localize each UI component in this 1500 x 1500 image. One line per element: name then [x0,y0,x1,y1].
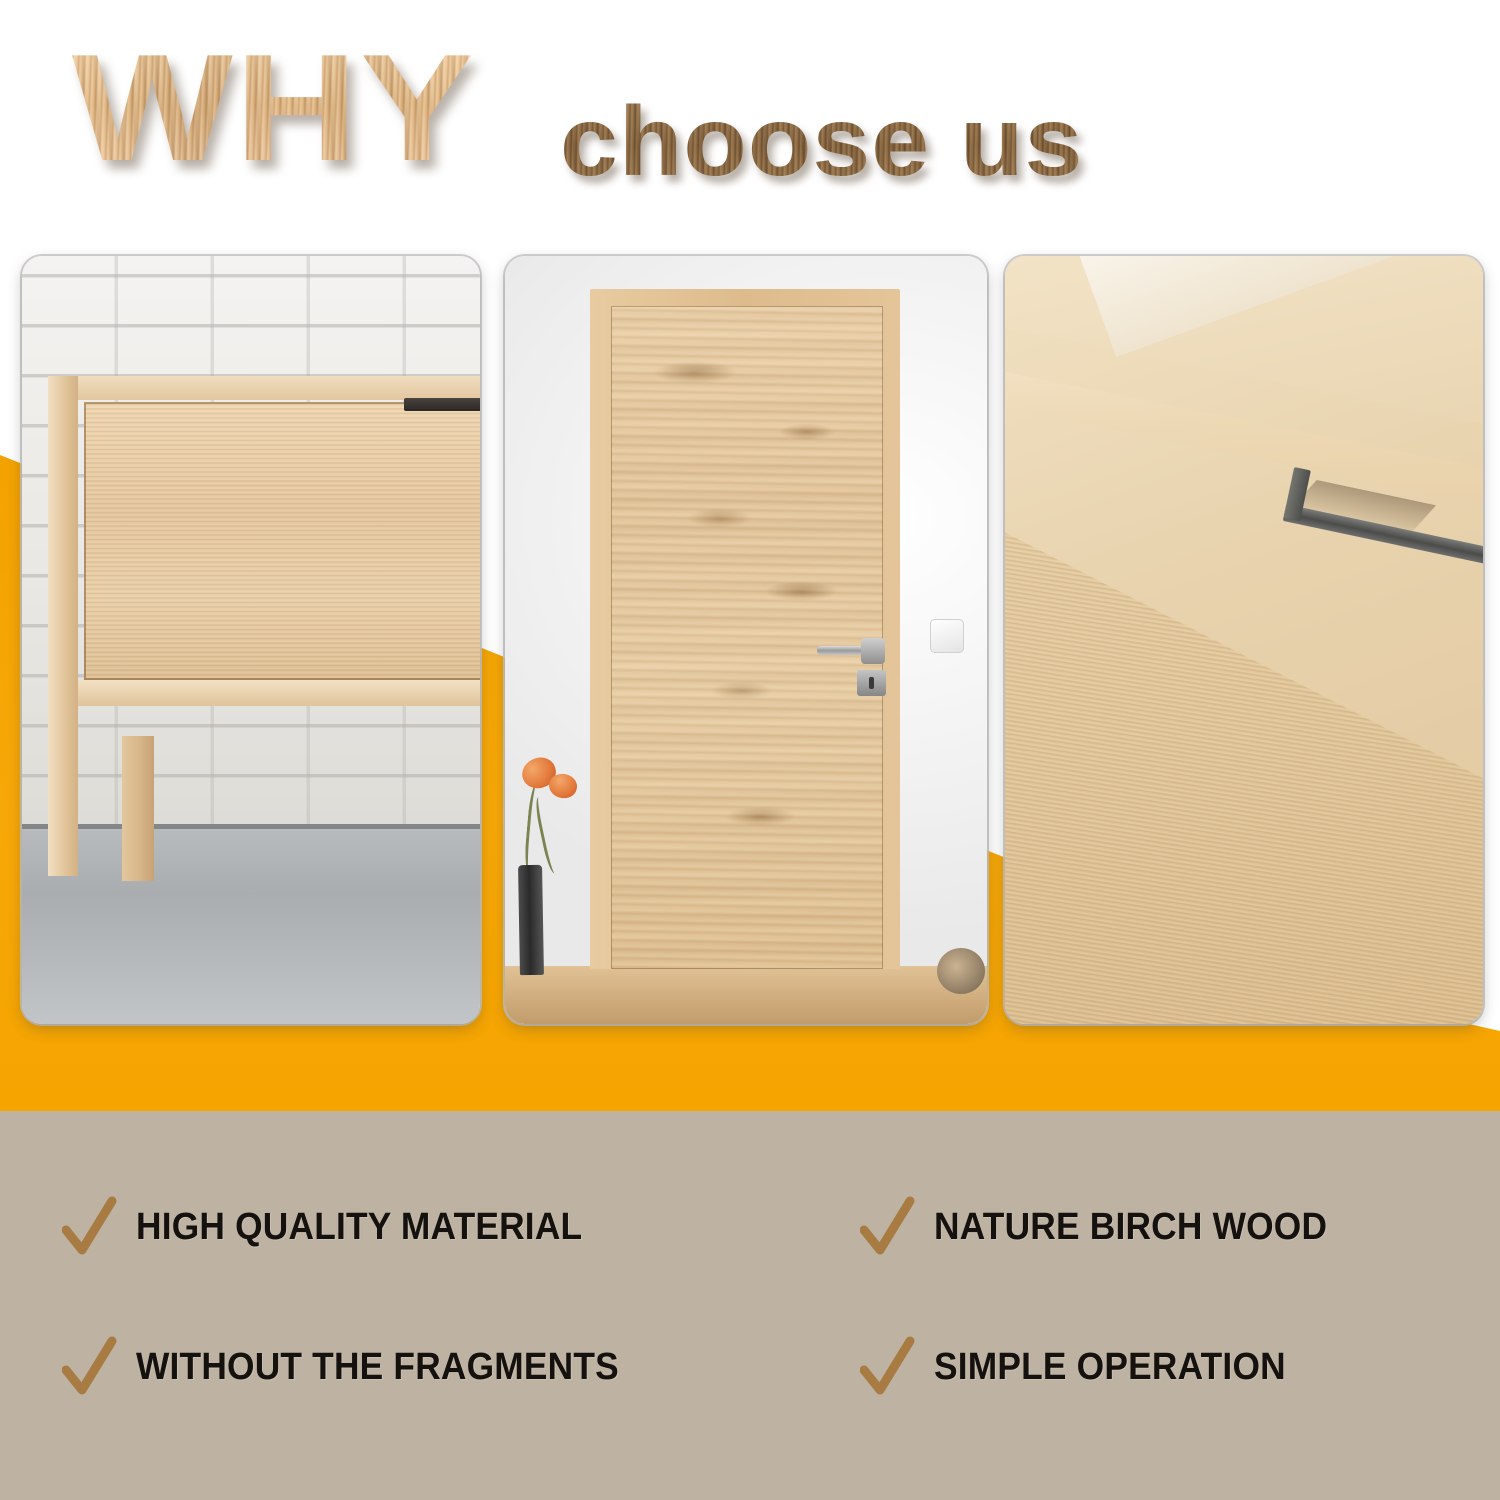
wood-stump-decor [937,948,985,994]
gallery-card-oak-door[interactable] [505,256,987,1024]
gallery-card-cabinet[interactable] [22,256,480,1024]
oak-door-leaf [611,306,883,969]
cabinet-handle [404,398,480,411]
cabinet-leg-left [48,376,78,876]
photo-oak-door [505,256,987,1024]
feature-item-nature-birch-wood: NATURE BIRCH WOOD [860,1196,1357,1258]
feature-item-high-quality-material: HIGH QUALITY MATERIAL [62,1196,616,1258]
door-handle-rose [861,638,885,664]
wood-floor [505,966,987,1024]
photo-wooden-cabinet [22,256,480,1024]
door-lock-cylinder [857,670,886,696]
page-title-why: WHY [72,32,476,184]
feature-item-without-the-fragments: WITHOUT THE FRAGMENTS [62,1336,655,1398]
header: WHY choose us [0,0,1500,240]
gallery-card-drawer-closeup[interactable] [1005,256,1483,1024]
why-choose-us-infographic: WHY choose us [0,0,1500,1500]
cabinet-front-panel [84,402,480,680]
check-icon [860,1196,916,1258]
cabinet-bottom-rail [48,680,480,706]
feature-list-panel: HIGH QUALITY MATERIAL NATURE BIRCH WOOD … [0,1111,1500,1500]
light-switch [930,619,964,653]
black-vase [518,865,544,975]
feature-label: SIMPLE OPERATION [934,1347,1286,1387]
check-icon [860,1336,916,1398]
feature-label: NATURE BIRCH WOOD [934,1207,1327,1247]
cabinet-leg-middle [122,736,154,881]
page-title-choose-us: choose us [560,92,1083,190]
feature-label: WITHOUT THE FRAGMENTS [136,1347,619,1387]
cabinet-top-rail [48,376,480,400]
feature-label: HIGH QUALITY MATERIAL [136,1207,582,1247]
feature-item-simple-operation: SIMPLE OPERATION [860,1336,1312,1398]
check-icon [62,1336,118,1398]
concrete-floor [22,824,480,1024]
photo-drawer-handle-closeup [1005,256,1483,1024]
check-icon [62,1196,118,1258]
